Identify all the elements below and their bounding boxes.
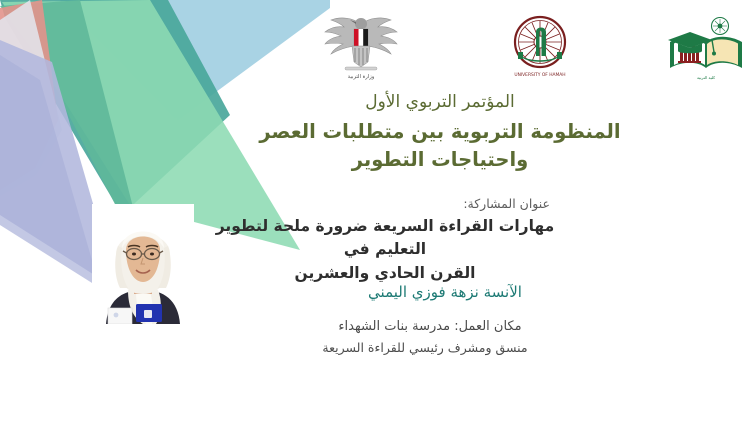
svg-text:كلية التربية: كلية التربية [697,75,715,80]
deco-shape-pale-gray [0,0,62,196]
presenter-portrait [92,204,194,324]
role-text: منسق ومشرف رئيسي للقراءة السريعة [290,340,560,355]
presenter-name: الآنسة نزهة فوزي اليمني [330,283,560,301]
participation-label: عنوان المشاركة: [300,196,550,211]
logo-row: وزارة التربية [295,6,750,88]
deco-shape-lavender-2 [0,55,100,288]
deco-shape-salmon [0,0,58,190]
university-logo: UNIVERSITY OF HAMAH [490,6,590,84]
conference-title-line-2: واحتياجات التطوير [240,146,640,174]
conference-slide: وزارة التربية [0,0,750,430]
participation-title-line-2: القرن الحادي والعشرين [215,262,555,285]
deco-shape-teal [0,0,230,215]
svg-text:وزارة التربية: وزارة التربية [348,74,375,80]
workplace-text: مكان العمل: مدرسة بنات الشهداء [300,319,560,334]
conference-title: المنظومة التربوية بين متطلبات العصر واحت… [240,118,640,175]
faculty-of-education-logo: كلية التربية [660,6,750,84]
svg-text:UNIVERSITY OF HAMAH: UNIVERSITY OF HAMAH [514,72,565,78]
participation-title: مهارات القراءة السريعة ضرورة ملحة لتطوير… [215,215,555,285]
participation-title-line-1: مهارات القراءة السريعة ضرورة ملحة لتطوير… [215,215,555,262]
conference-title-line-1: المنظومة التربوية بين متطلبات العصر [240,118,640,146]
deco-shape-green [0,0,135,215]
conference-subtitle: المؤتمر التربوي الأول [250,92,630,112]
ministry-of-education-syria-logo: وزارة التربية [315,6,407,84]
